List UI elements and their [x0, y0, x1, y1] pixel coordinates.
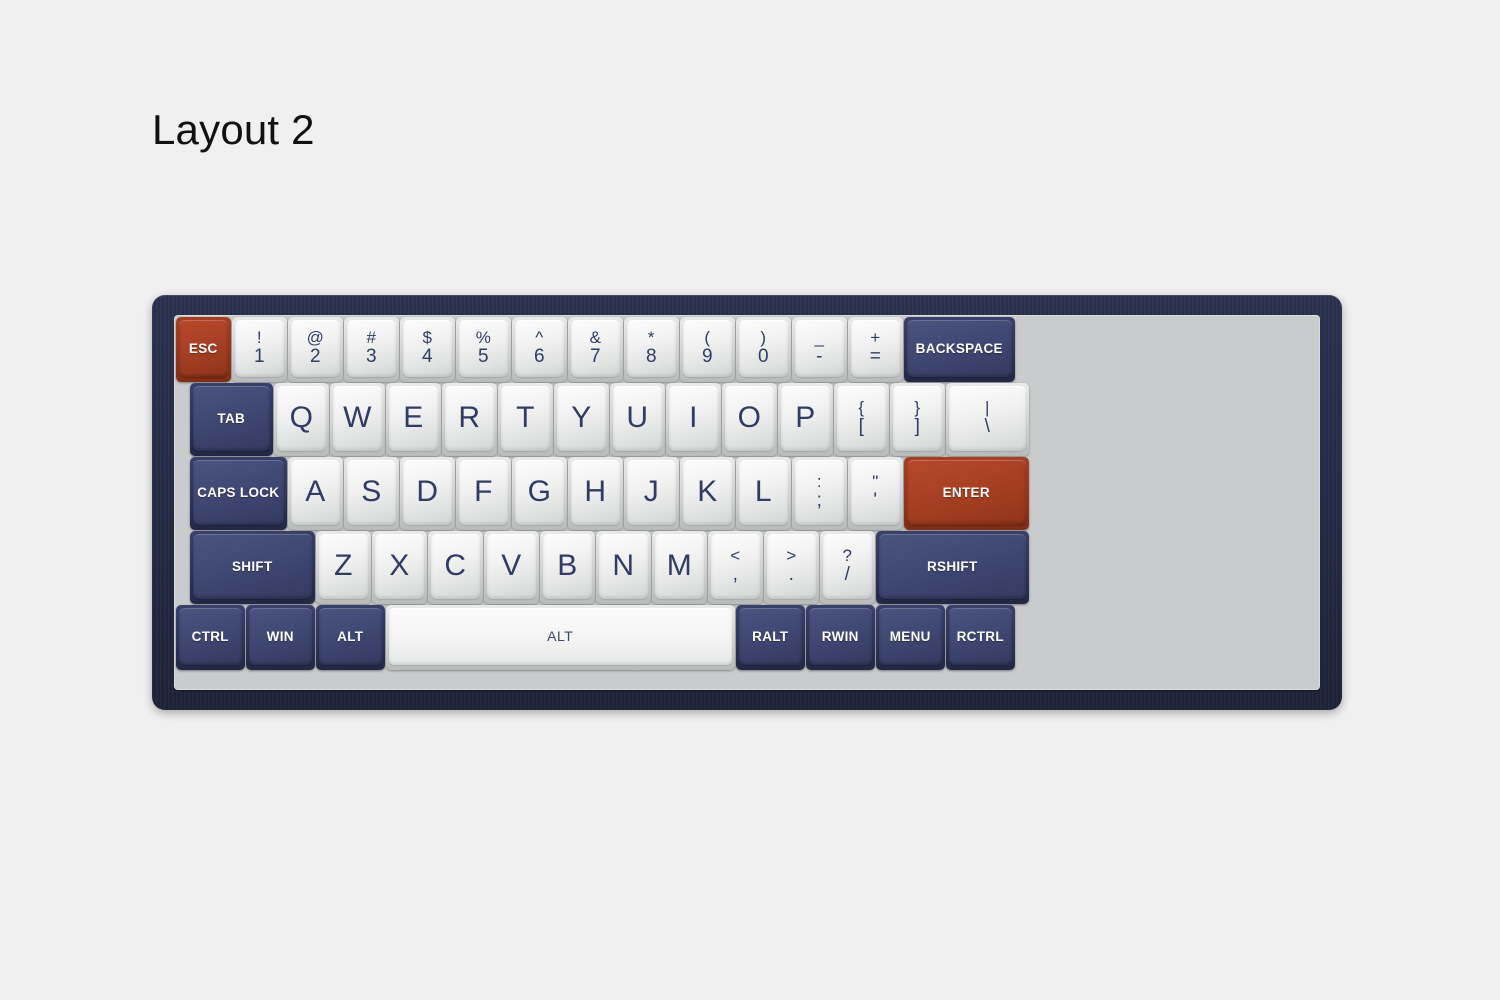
key-win[interactable]: WIN	[246, 605, 315, 670]
keycap-8: *8	[627, 320, 676, 377]
key-legend-bottom-semicolon: ;	[817, 491, 822, 511]
key-legend-win: WIN	[267, 630, 294, 644]
key-shift[interactable]: SHIFT	[190, 531, 315, 604]
key-p[interactable]: P	[778, 383, 833, 456]
key-legend-bottom-slash: /	[845, 565, 850, 585]
key-5[interactable]: %5	[456, 317, 511, 382]
key-s[interactable]: S	[344, 457, 399, 530]
keycap-y: Y	[557, 386, 606, 451]
key-2[interactable]: @2	[288, 317, 343, 382]
key-legend-alt: ALT	[337, 630, 363, 644]
keycap-equal: +=	[851, 320, 900, 377]
keycap-enter: ENTER	[907, 460, 1026, 525]
keycap-o: O	[725, 386, 774, 451]
key-legend-bottom-quote: '	[873, 491, 877, 511]
key-o[interactable]: O	[722, 383, 777, 456]
keycap-x: X	[375, 534, 424, 599]
keycap-slash: ?/	[823, 534, 872, 599]
key-legend-m: M	[667, 551, 692, 581]
key-7[interactable]: &7	[568, 317, 623, 382]
key-legend-0: )0	[758, 329, 769, 367]
key-w[interactable]: W	[330, 383, 385, 456]
key-r[interactable]: R	[442, 383, 497, 456]
keycap-shift: SHIFT	[193, 534, 312, 599]
key-legend-bottom-3: 3	[366, 347, 377, 367]
keycap-q: Q	[277, 386, 326, 451]
keycap-rwin: RWIN	[809, 608, 872, 665]
key-z[interactable]: Z	[316, 531, 371, 604]
key-k[interactable]: K	[680, 457, 735, 530]
keycap-semicolon: :;	[795, 460, 844, 525]
key-legend-b: B	[557, 551, 577, 581]
key-rshift[interactable]: RSHIFT	[876, 531, 1029, 604]
key-legend-slash: ?/	[843, 547, 852, 585]
keyboard-case: ESC!1@2#3$4%5^6&7*8(9)0_-+=BACKSPACETABQ…	[152, 295, 1342, 710]
key-legend-k: K	[697, 477, 717, 507]
key-legend-top-bracket-right: }	[914, 399, 920, 417]
key-legend-7: &7	[590, 329, 601, 367]
keycap-n: N	[599, 534, 648, 599]
key-legend-equal: +=	[870, 329, 881, 367]
key-menu[interactable]: MENU	[876, 605, 945, 670]
keycap-l: L	[739, 460, 788, 525]
key-legend-tab: TAB	[217, 412, 245, 426]
key-i[interactable]: I	[666, 383, 721, 456]
key-legend-top-bracket-left: {	[858, 399, 864, 417]
keycap-caps-lock: CAPS LOCK	[193, 460, 284, 525]
key-alt[interactable]: ALT	[316, 605, 385, 670]
key-legend-top-0: )	[760, 329, 766, 347]
key-legend-bottom-1: 1	[254, 347, 265, 367]
key-legend-a: A	[305, 477, 325, 507]
keycap-s: S	[347, 460, 396, 525]
key-legend-bracket-right: }]	[914, 399, 920, 437]
key-t[interactable]: T	[498, 383, 553, 456]
keycap-g: G	[515, 460, 564, 525]
keycap-backslash: |\	[949, 386, 1026, 451]
keycap-quote: "'	[851, 460, 900, 525]
key-legend-bracket-left: {[	[858, 399, 864, 437]
keycap-u: U	[613, 386, 662, 451]
key-a[interactable]: A	[288, 457, 343, 530]
keycap-j: J	[627, 460, 676, 525]
key-legend-quote: "'	[872, 473, 878, 511]
key-slash[interactable]: ?/	[820, 531, 875, 604]
key-ctrl[interactable]: CTRL	[176, 605, 245, 670]
key-legend-o: O	[738, 403, 761, 433]
key-tab[interactable]: TAB	[190, 383, 273, 456]
keycap-v: V	[487, 534, 536, 599]
key-g[interactable]: G	[512, 457, 567, 530]
key-legend-g: G	[528, 477, 551, 507]
keycap-e: E	[389, 386, 438, 451]
key-4[interactable]: $4	[400, 317, 455, 382]
key-semicolon[interactable]: :;	[792, 457, 847, 530]
keycap-esc: ESC	[179, 320, 228, 377]
keycap-menu: MENU	[879, 608, 942, 665]
keycap-bracket-left: {[	[837, 386, 886, 451]
key-legend-top-5: %	[476, 329, 491, 347]
key-legend-c: C	[444, 551, 466, 581]
keycap-minus: _-	[795, 320, 844, 377]
key-legend-6: ^6	[534, 329, 545, 367]
key-0[interactable]: )0	[736, 317, 791, 382]
key-spacebar[interactable]: ALT	[386, 605, 735, 670]
key-legend-top-7: &	[590, 329, 601, 347]
keycap-6: ^6	[515, 320, 564, 377]
key-9[interactable]: (9	[680, 317, 735, 382]
key-legend-top-3: #	[367, 329, 376, 347]
key-legend-l: L	[755, 477, 772, 507]
key-legend-9: (9	[702, 329, 713, 367]
keycap-r: R	[445, 386, 494, 451]
key-legend-top-comma: <	[730, 547, 740, 565]
key-legend-d: D	[416, 477, 438, 507]
key-legend-bottom-4: 4	[422, 347, 433, 367]
keycap-f: F	[459, 460, 508, 525]
key-legend-top-9: (	[704, 329, 710, 347]
key-legend-backslash: |\	[985, 399, 990, 437]
key-legend-top-6: ^	[535, 329, 543, 347]
key-backspace[interactable]: BACKSPACE	[904, 317, 1015, 382]
key-legend-8: *8	[646, 329, 657, 367]
keycap-spacebar: ALT	[389, 608, 732, 665]
key-legend-p: P	[795, 403, 815, 433]
key-n[interactable]: N	[596, 531, 651, 604]
key-legend-enter: ENTER	[943, 486, 990, 500]
key-legend-period: >.	[786, 547, 796, 585]
key-legend-4: $4	[422, 329, 433, 367]
keycap-k: K	[683, 460, 732, 525]
keycap-rshift: RSHIFT	[879, 534, 1026, 599]
key-legend-top-4: $	[423, 329, 432, 347]
key-y[interactable]: Y	[554, 383, 609, 456]
key-legend-f: F	[474, 477, 492, 507]
key-legend-bottom-8: 8	[646, 347, 657, 367]
key-legend-bottom-comma: ,	[733, 565, 738, 585]
key-legend-s: S	[361, 477, 381, 507]
keycap-win: WIN	[249, 608, 312, 665]
key-1[interactable]: !1	[232, 317, 287, 382]
key-legend-bottom-bracket-left: [	[859, 417, 864, 437]
key-minus[interactable]: _-	[792, 317, 847, 382]
keycap-tab: TAB	[193, 386, 270, 451]
key-h[interactable]: H	[568, 457, 623, 530]
key-b[interactable]: B	[540, 531, 595, 604]
key-equal[interactable]: +=	[848, 317, 903, 382]
key-legend-e: E	[403, 403, 423, 433]
key-m[interactable]: M	[652, 531, 707, 604]
key-rctrl[interactable]: RCTRL	[946, 605, 1015, 670]
key-legend-q: Q	[290, 403, 313, 433]
key-legend-bottom-6: 6	[534, 347, 545, 367]
key-legend-top-2: @	[307, 329, 324, 347]
key-legend-1: !1	[254, 329, 265, 367]
key-legend-bottom-7: 7	[590, 347, 601, 367]
key-legend-top-period: >	[786, 547, 796, 565]
key-legend-top-backslash: |	[985, 399, 989, 417]
keycap-comma: <,	[711, 534, 760, 599]
key-legend-2: @2	[307, 329, 324, 367]
key-legend-top-slash: ?	[843, 547, 852, 565]
keycap-a: A	[291, 460, 340, 525]
key-bracket-left[interactable]: {[	[834, 383, 889, 456]
key-q[interactable]: Q	[274, 383, 329, 456]
keycap-alt: ALT	[319, 608, 382, 665]
keycap-b: B	[543, 534, 592, 599]
key-u[interactable]: U	[610, 383, 665, 456]
key-6[interactable]: ^6	[512, 317, 567, 382]
key-e[interactable]: E	[386, 383, 441, 456]
key-legend-bottom-equal: =	[870, 347, 881, 367]
key-legend-bottom-2: 2	[310, 347, 321, 367]
key-legend-shift: SHIFT	[232, 560, 273, 574]
key-legend-i: I	[689, 403, 697, 433]
key-3[interactable]: #3	[344, 317, 399, 382]
key-legend-j: J	[644, 477, 659, 507]
key-legend-top-quote: "	[872, 473, 878, 491]
key-legend-bottom-period: .	[789, 565, 794, 585]
key-legend-minus: _-	[815, 329, 824, 367]
key-legend-top-1: !	[257, 329, 262, 347]
key-backslash[interactable]: |\	[946, 383, 1029, 456]
key-legend-bottom-minus: -	[816, 347, 822, 367]
key-legend-x: X	[389, 551, 409, 581]
keycap-h: H	[571, 460, 620, 525]
key-legend-bottom-0: 0	[758, 347, 769, 367]
keycap-p: P	[781, 386, 830, 451]
key-legend-ctrl: CTRL	[192, 630, 229, 644]
keycap-c: C	[431, 534, 480, 599]
key-quote[interactable]: "'	[848, 457, 903, 530]
key-legend-bottom-bracket-right: ]	[915, 417, 920, 437]
key-legend-bottom-5: 5	[478, 347, 489, 367]
key-legend-rshift: RSHIFT	[927, 560, 978, 574]
key-legend-menu: MENU	[890, 630, 931, 644]
key-legend-comma: <,	[730, 547, 740, 585]
key-caps-lock[interactable]: CAPS LOCK	[190, 457, 287, 530]
key-legend-z: Z	[334, 551, 352, 581]
keycap-5: %5	[459, 320, 508, 377]
keycap-backspace: BACKSPACE	[907, 320, 1012, 377]
key-legend-backspace: BACKSPACE	[916, 342, 1003, 356]
key-legend-r: R	[458, 403, 480, 433]
key-legend-w: W	[343, 403, 371, 433]
keycap-9: (9	[683, 320, 732, 377]
key-esc[interactable]: ESC	[176, 317, 231, 382]
key-x[interactable]: X	[372, 531, 427, 604]
key-ralt[interactable]: RALT	[736, 605, 805, 670]
keycap-i: I	[669, 386, 718, 451]
key-legend-rctrl: RCTRL	[957, 630, 1004, 644]
keycap-w: W	[333, 386, 382, 451]
keycap-m: M	[655, 534, 704, 599]
keycap-1: !1	[235, 320, 284, 377]
key-legend-top-semicolon: :	[817, 473, 822, 491]
keycap-0: )0	[739, 320, 788, 377]
key-d[interactable]: D	[400, 457, 455, 530]
keycap-ralt: RALT	[739, 608, 802, 665]
keycap-rctrl: RCTRL	[949, 608, 1012, 665]
keycap-d: D	[403, 460, 452, 525]
keycap-bracket-right: }]	[893, 386, 942, 451]
key-legend-n: N	[612, 551, 634, 581]
key-legend-caps-lock: CAPS LOCK	[197, 486, 279, 500]
key-enter[interactable]: ENTER	[904, 457, 1029, 530]
keycap-2: @2	[291, 320, 340, 377]
key-legend-h: H	[584, 477, 606, 507]
key-legend-bottom-backslash: \	[985, 417, 990, 437]
keycap-z: Z	[319, 534, 368, 599]
key-legend-semicolon: :;	[817, 473, 822, 511]
keycap-7: &7	[571, 320, 620, 377]
key-bracket-right[interactable]: }]	[890, 383, 945, 456]
keycap-period: >.	[767, 534, 816, 599]
key-comma[interactable]: <,	[708, 531, 763, 604]
key-legend-u: U	[626, 403, 648, 433]
key-legend-y: Y	[571, 403, 591, 433]
key-f[interactable]: F	[456, 457, 511, 530]
keycap-t: T	[501, 386, 550, 451]
key-legend-esc: ESC	[189, 342, 218, 356]
key-c[interactable]: C	[428, 531, 483, 604]
key-legend-ralt: RALT	[752, 630, 788, 644]
keycap-4: $4	[403, 320, 452, 377]
key-legend-bottom-9: 9	[702, 347, 713, 367]
page-title: Layout 2	[152, 106, 315, 154]
key-legend-5: %5	[476, 329, 491, 367]
key-8[interactable]: *8	[624, 317, 679, 382]
key-legend-3: #3	[366, 329, 377, 367]
key-legend-spacebar: ALT	[547, 628, 573, 644]
keycap-3: #3	[347, 320, 396, 377]
key-period[interactable]: >.	[764, 531, 819, 604]
key-legend-top-minus: _	[815, 329, 824, 347]
keycap-ctrl: CTRL	[179, 608, 242, 665]
key-j[interactable]: J	[624, 457, 679, 530]
key-legend-v: V	[501, 551, 521, 581]
key-l[interactable]: L	[736, 457, 791, 530]
keyboard-plate: ESC!1@2#3$4%5^6&7*8(9)0_-+=BACKSPACETABQ…	[174, 315, 1320, 690]
key-legend-t: T	[516, 403, 534, 433]
key-v[interactable]: V	[484, 531, 539, 604]
key-legend-top-8: *	[648, 329, 655, 347]
key-legend-top-equal: +	[870, 329, 880, 347]
key-legend-rwin: RWIN	[822, 630, 859, 644]
key-rwin[interactable]: RWIN	[806, 605, 875, 670]
